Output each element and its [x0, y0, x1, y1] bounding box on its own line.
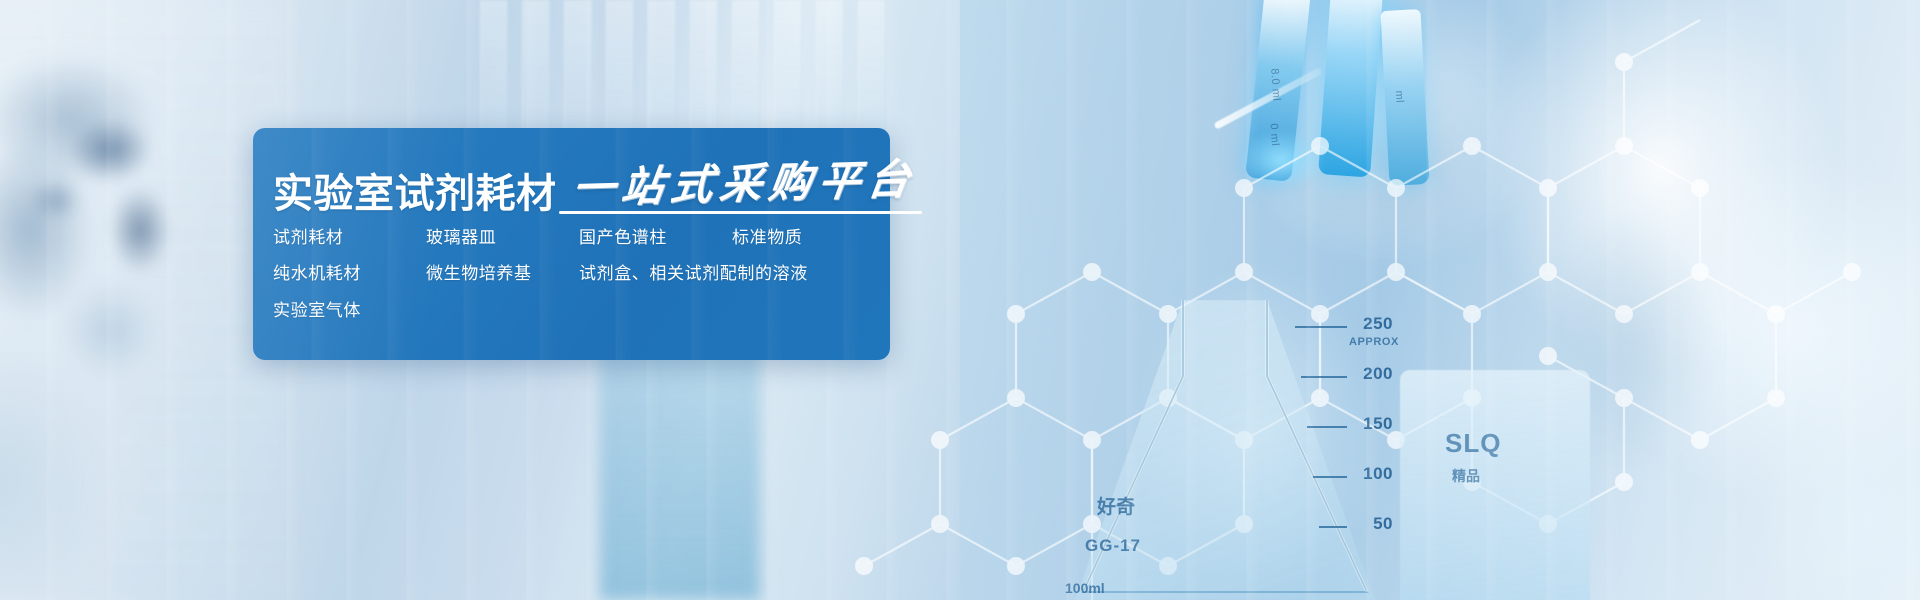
- headline-underline: [559, 211, 922, 214]
- category-link-water-purifier-consumables[interactable]: 纯水机耗材: [273, 264, 426, 284]
- category-link-reagent-kits-and-solutions[interactable]: 试剂盒、相关试剂配制的溶液: [579, 264, 808, 284]
- category-row: 试剂耗材 玻璃器皿 国产色谱柱 标准物质: [273, 228, 873, 248]
- category-list: 试剂耗材 玻璃器皿 国产色谱柱 标准物质 纯水机耗材 微生物培养基 试剂盒、相关…: [273, 228, 873, 321]
- headline-brush-text: 一站式采购平台: [569, 158, 919, 210]
- category-row: 实验室气体: [273, 301, 873, 321]
- category-link-reagent-consumables[interactable]: 试剂耗材: [273, 228, 426, 248]
- promo-panel: 实验室试剂耗材 一站式采购平台 试剂耗材 玻璃器皿 国产色谱柱 标准物质 纯水机…: [253, 128, 890, 360]
- category-link-glassware[interactable]: 玻璃器皿: [426, 228, 579, 248]
- promo-banner: 8.0 ml 0 ml ml: [0, 0, 1920, 600]
- headline-brush-group: 一站式采购平台: [573, 163, 916, 214]
- category-link-laboratory-gas[interactable]: 实验室气体: [273, 301, 426, 321]
- headline-primary-text: 实验室试剂耗材: [273, 174, 557, 214]
- page-title: 实验室试剂耗材 一站式采购平台: [273, 152, 873, 214]
- category-link-reference-material[interactable]: 标准物质: [732, 228, 802, 248]
- category-row: 纯水机耗材 微生物培养基 试剂盒、相关试剂配制的溶液: [273, 264, 873, 284]
- category-link-domestic-chromatography-column[interactable]: 国产色谱柱: [579, 228, 732, 248]
- category-link-microbial-culture-medium[interactable]: 微生物培养基: [426, 264, 579, 284]
